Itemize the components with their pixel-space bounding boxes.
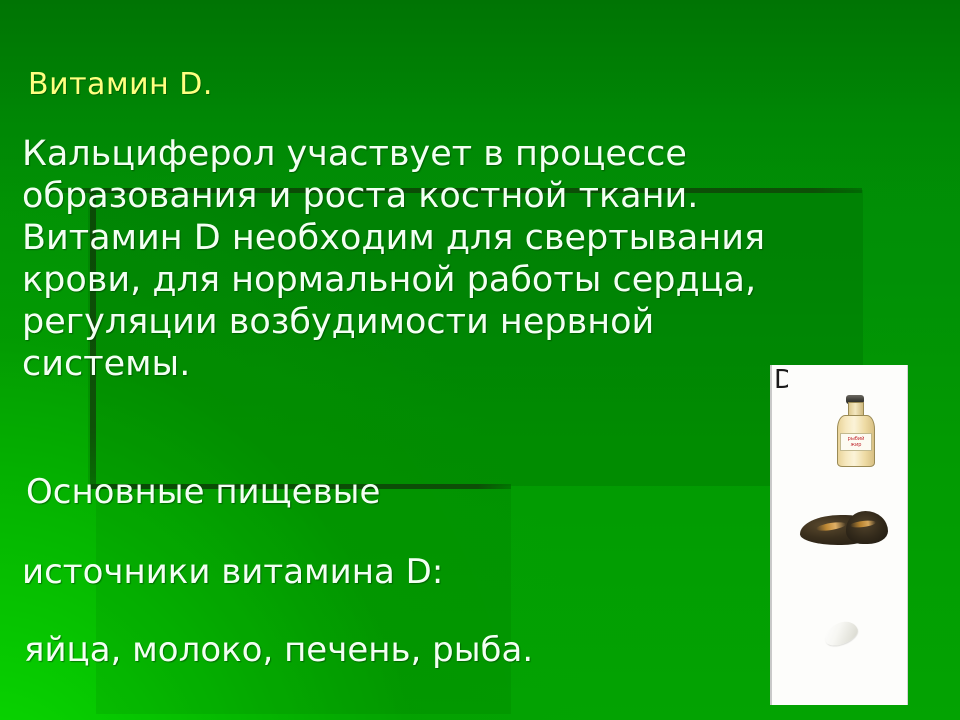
sources-heading-line-2: источники витамина D: [22, 552, 443, 592]
panel-corner-letter: D [774, 365, 788, 395]
illustration-panel: D рыбий жир [770, 365, 908, 705]
slide-title: Витамин D. [28, 68, 213, 102]
presentation-slide: Витамин D. Кальциферол участвует в проце… [0, 0, 960, 720]
fish-oil-bottle-icon: рыбий жир [834, 393, 876, 467]
bottle-label: рыбий жир [840, 433, 872, 451]
liver-lobe [846, 511, 888, 544]
egg-icon [824, 623, 860, 647]
bottle-label-line-2: жир [851, 442, 862, 449]
sources-list: яйца, молоко, печень, рыба. [24, 630, 533, 670]
body-line: Кальциферол участвует в процессе [22, 133, 902, 175]
body-line: регуляции возбудимости нервной [22, 301, 902, 343]
content-placeholder-shadow-secondary [96, 486, 511, 714]
body-line: крови, для нормальной работы сердца, [22, 259, 902, 301]
slide-body-text: Кальциферол участвует в процессе образов… [22, 133, 902, 385]
liver-icon [800, 510, 888, 550]
body-line: Витамин D необходим для свертывания [22, 217, 902, 259]
sources-heading-line-1: Основные пищевые [26, 472, 380, 512]
body-line: образования и роста костной ткани. [22, 175, 902, 217]
egg-shape [821, 617, 860, 649]
